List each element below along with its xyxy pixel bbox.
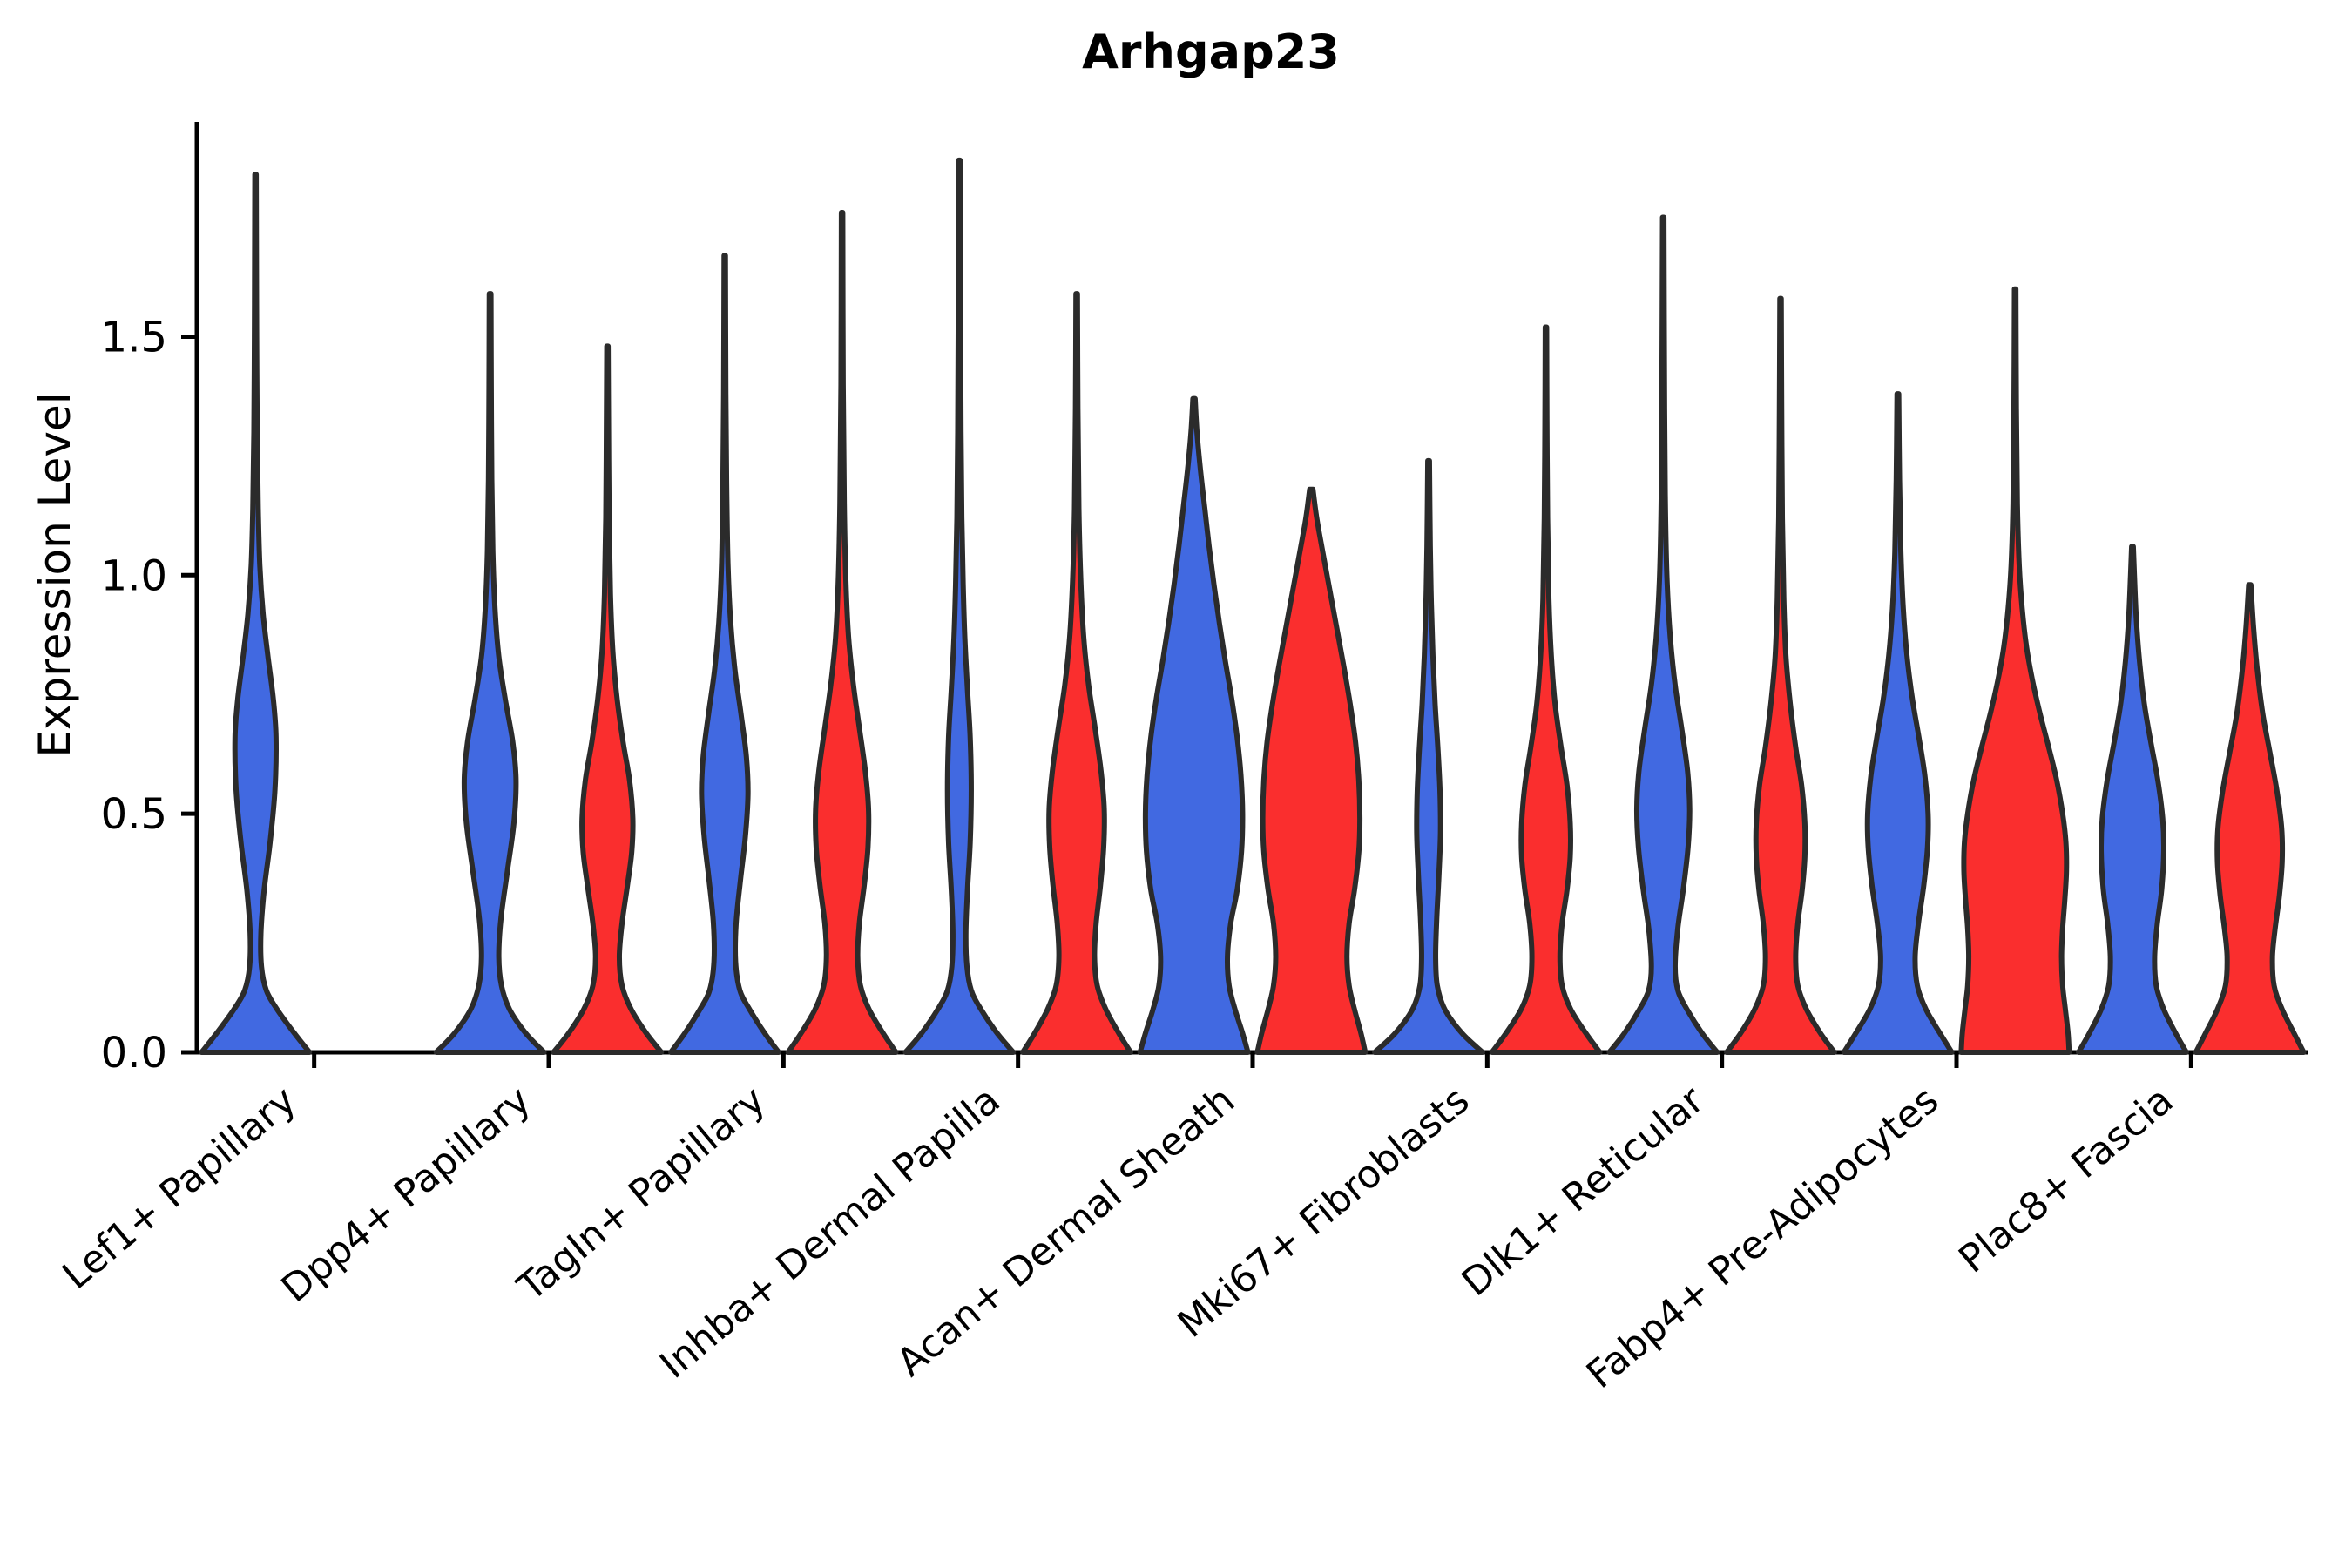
violin-shape[interactable]	[1492, 328, 1600, 1052]
violin-shape[interactable]	[1961, 289, 2069, 1052]
y-tick-label: 0.5	[101, 790, 167, 839]
y-axis: 0.00.51.01.5	[101, 122, 197, 1078]
violin-shape[interactable]	[1727, 299, 1835, 1052]
violin-shape[interactable]	[1023, 294, 1131, 1052]
y-tick-label: 1.5	[101, 313, 167, 362]
violin-shape[interactable]	[2078, 546, 2186, 1052]
violin-shape[interactable]	[905, 160, 1013, 1052]
violin-shape[interactable]	[1375, 461, 1483, 1052]
y-tick-label: 1.0	[101, 551, 167, 600]
violin-shape[interactable]	[436, 294, 544, 1052]
x-tick-label-container: Lef1+ PapillaryDpp4+ PapillaryTagIn+ Pap…	[54, 1078, 2181, 1397]
page-title: Arhgap23	[1082, 24, 1340, 79]
violin-shape[interactable]	[788, 213, 896, 1052]
y-axis-label: Expression Level	[30, 392, 80, 757]
y-tick-label: 0.0	[101, 1029, 167, 1078]
violin-series-container	[201, 160, 2303, 1052]
x-tick-label: Plac8+ Fascia	[1950, 1078, 2181, 1281]
x-tick-label: Dlk1+ Reticular	[1454, 1078, 1713, 1305]
violin-shape[interactable]	[1140, 399, 1248, 1052]
violin-shape[interactable]	[201, 174, 309, 1052]
violin-plot-figure: Arhgap23 Expression Level 0.00.51.01.5 L…	[0, 0, 2352, 1568]
x-tick-label: Lef1+ Papillary	[54, 1078, 304, 1298]
x-tick-label: Dpp4+ Papillary	[274, 1078, 539, 1311]
violin-shape[interactable]	[1609, 218, 1717, 1052]
violin-plot-canvas: Arhgap23 Expression Level 0.00.51.01.5 L…	[0, 0, 2352, 1568]
x-tick-label: TagIn+ Papillary	[509, 1078, 774, 1310]
violin-shape[interactable]	[553, 346, 661, 1052]
violin-shape[interactable]	[1257, 490, 1365, 1052]
violin-shape[interactable]	[1844, 394, 1952, 1052]
violin-shape[interactable]	[2196, 585, 2304, 1052]
violin-shape[interactable]	[671, 255, 779, 1052]
